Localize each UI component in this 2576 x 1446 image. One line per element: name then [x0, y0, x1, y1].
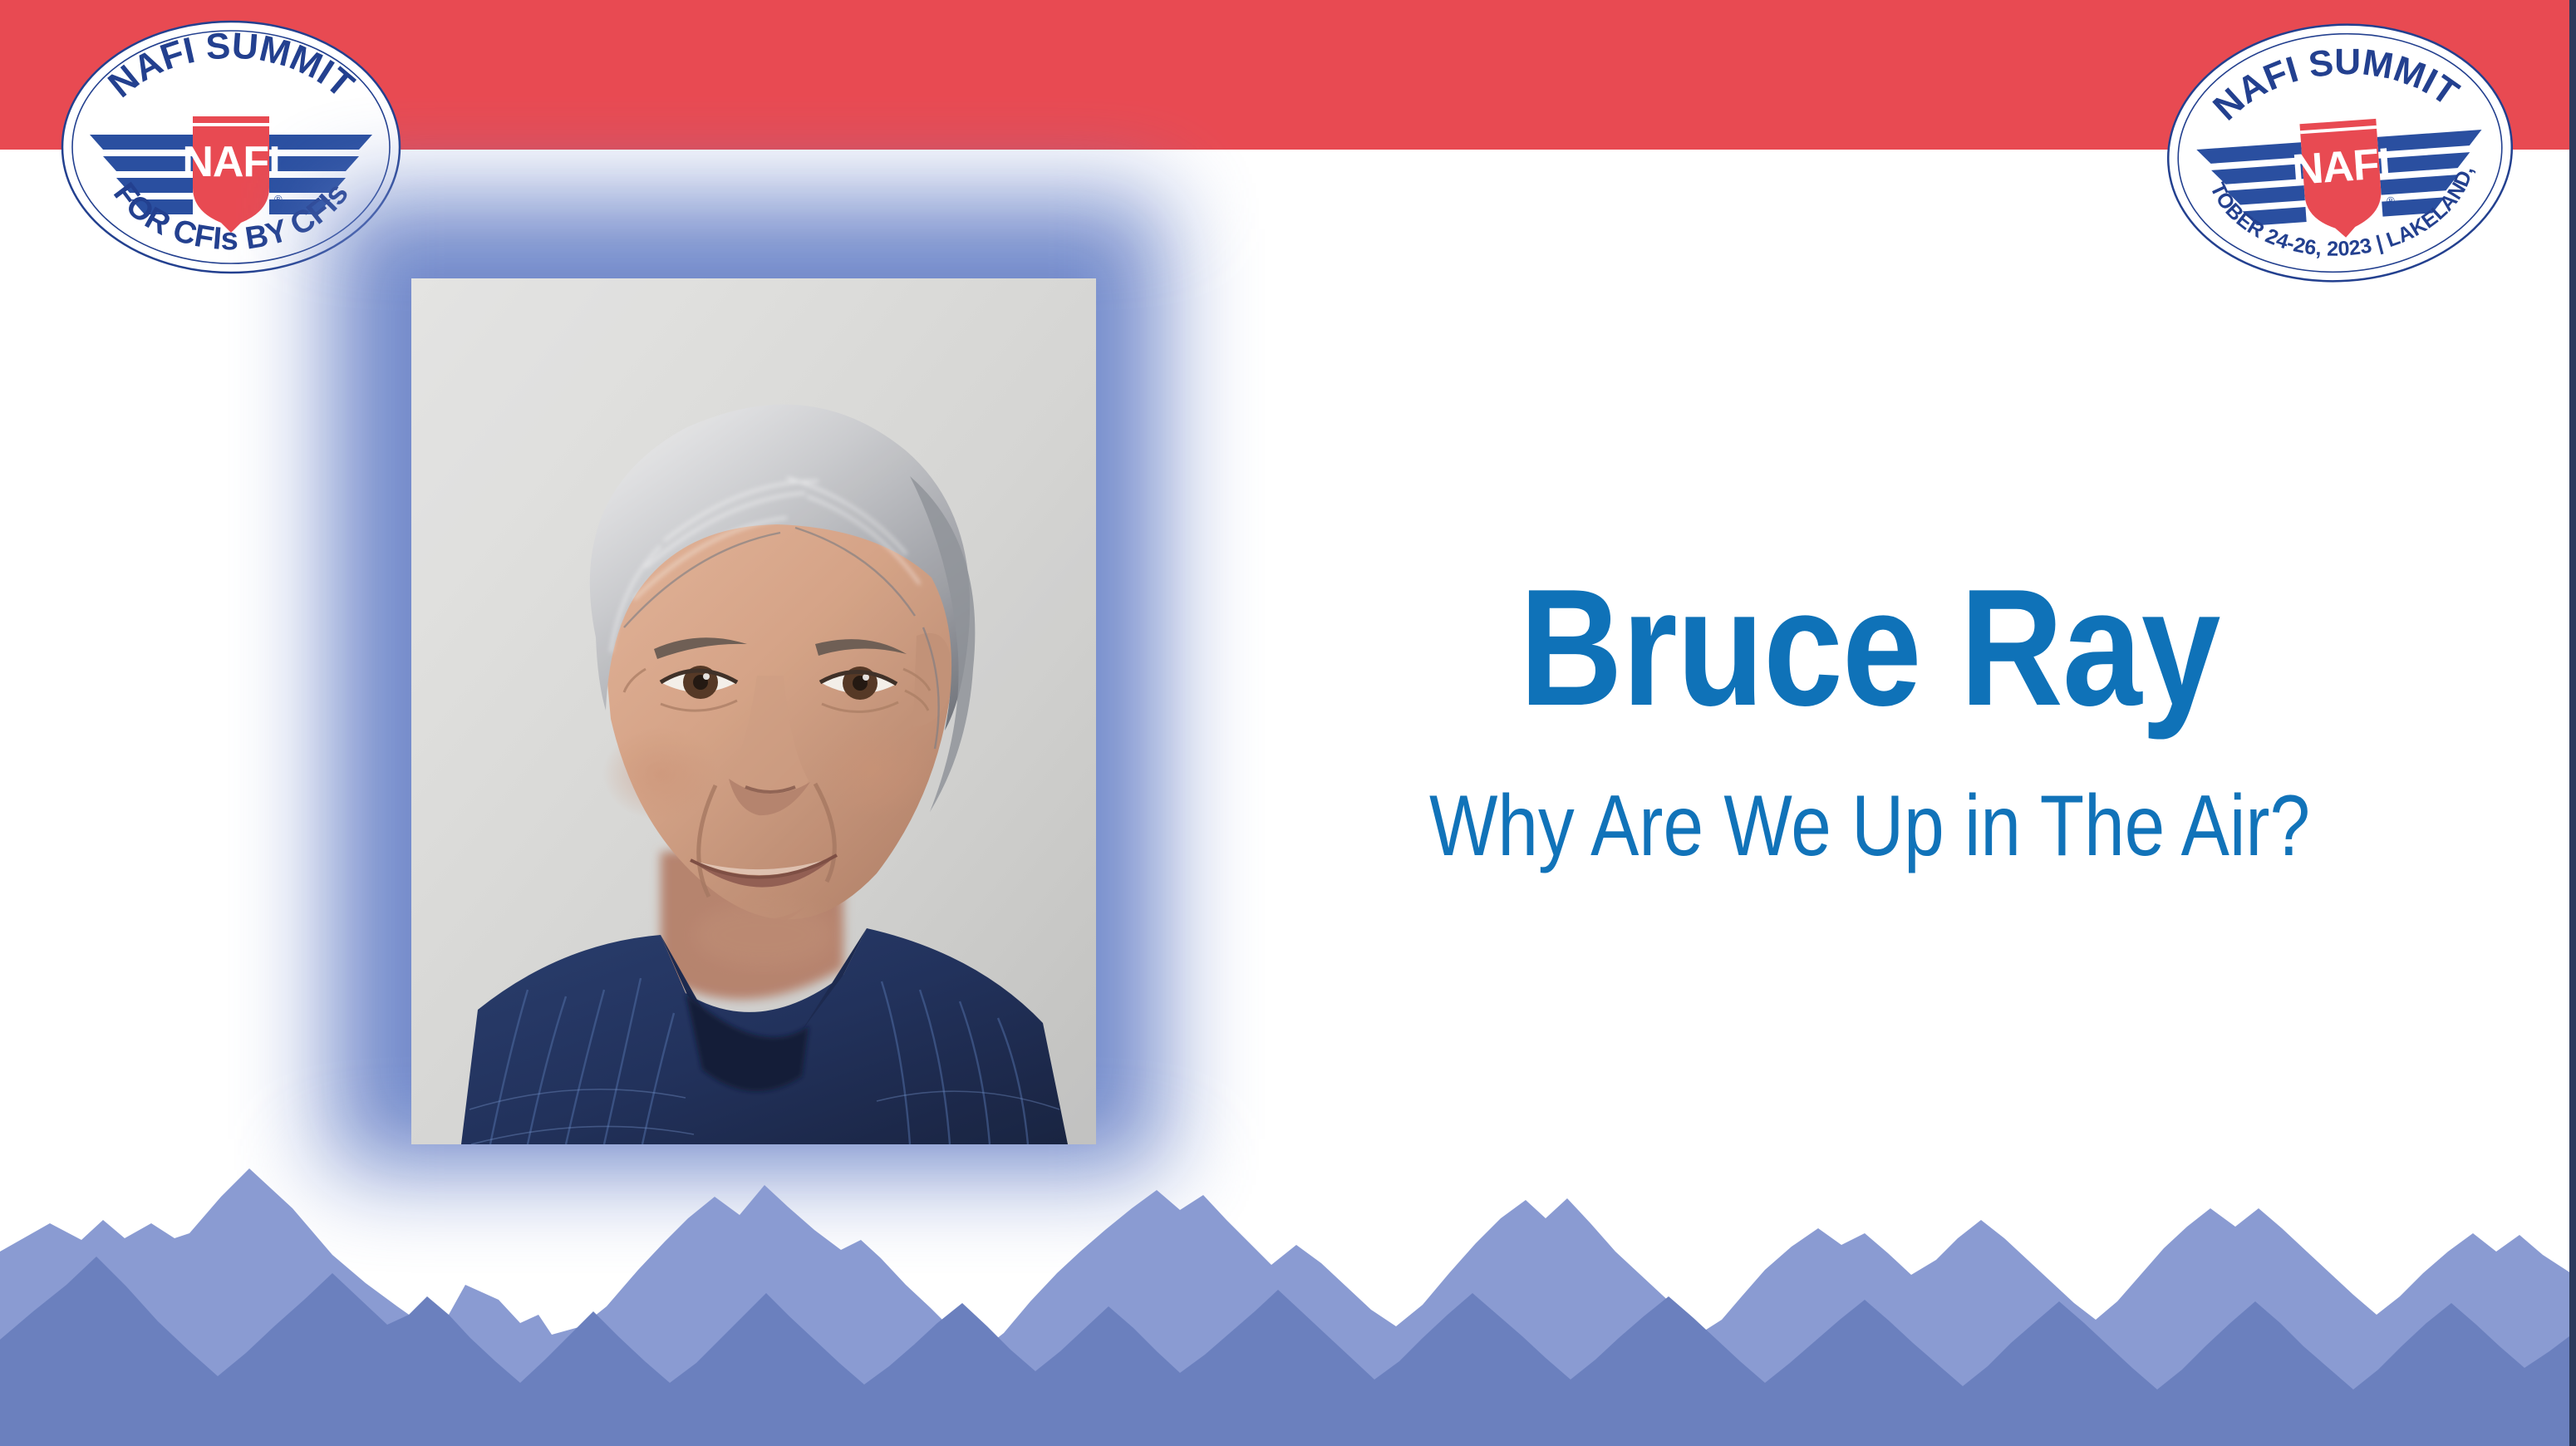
page-title: Bruce Ray: [1312, 565, 2427, 731]
shield-label: NAFI: [182, 138, 279, 186]
registered-mark: ®: [274, 193, 283, 205]
portrait-frame: [411, 278, 1096, 1144]
portrait-image: [411, 278, 1096, 1144]
speaker-portrait: [331, 198, 1162, 1170]
presentation-slide: NAFI ® NAFI SUMMIT FOR CFIs BY CFIs: [0, 0, 2576, 1446]
page-subtitle: Why Are We Up in The Air?: [1325, 783, 2414, 869]
nafi-summit-event-logo: NAFI ® NAFI SUMMIT OCTOBER 24-26, 2023 |…: [2156, 10, 2523, 297]
title-block: Bruce Ray Why Are We Up in The Air?: [1222, 565, 2518, 869]
mountain-silhouette: [0, 1097, 2576, 1446]
shield-stripe: [193, 123, 269, 126]
registered-mark: ®: [2387, 194, 2396, 208]
shield-label: NAFI: [2291, 140, 2392, 194]
